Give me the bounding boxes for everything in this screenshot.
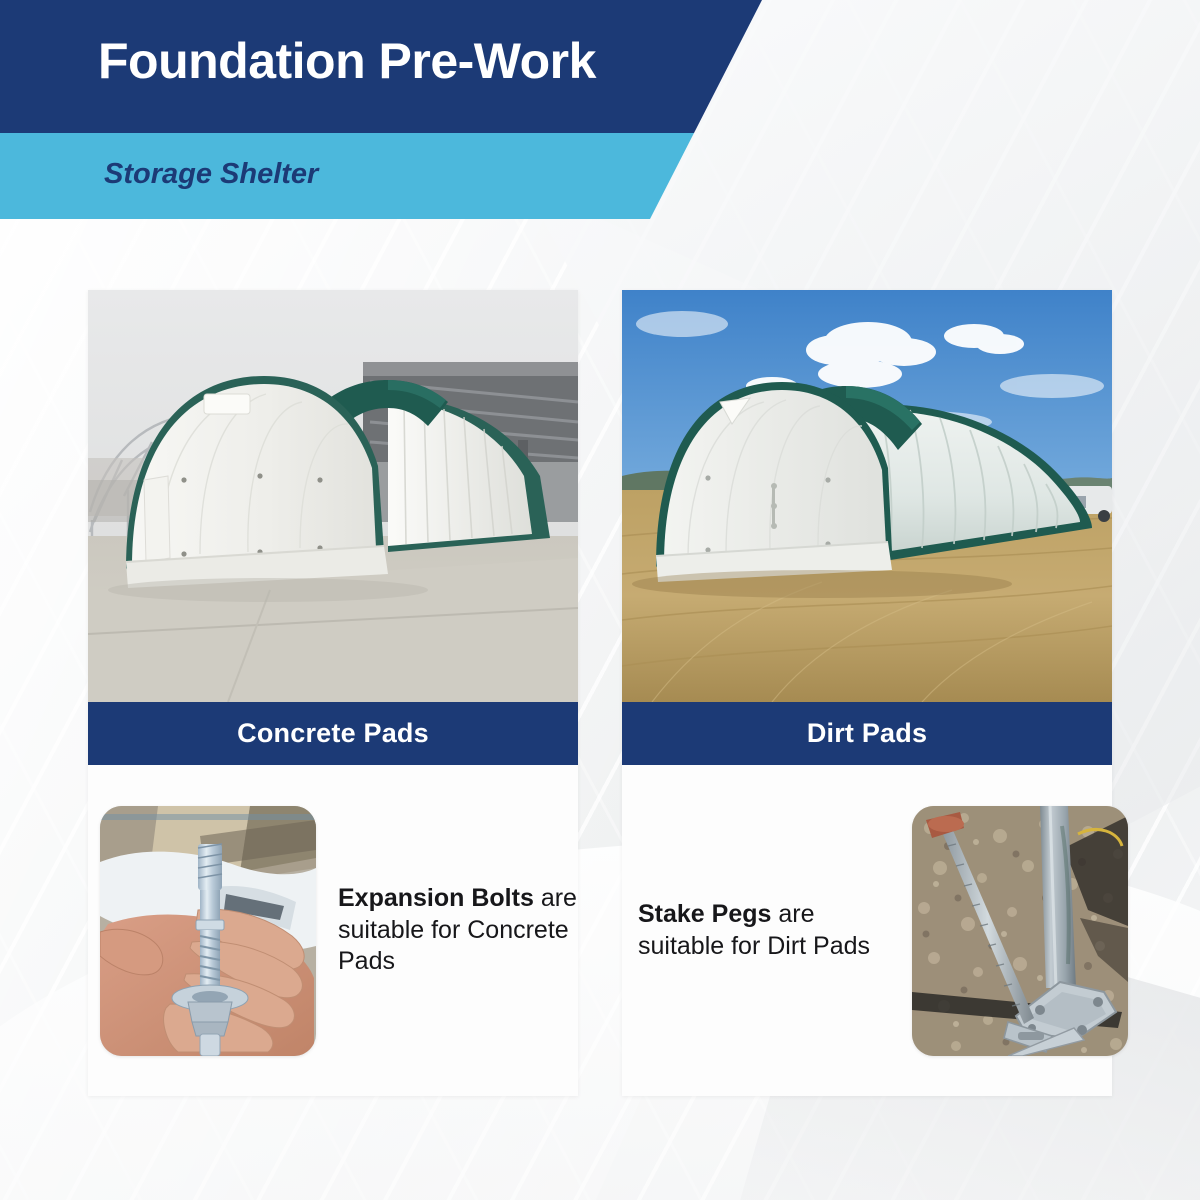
- panel-dirt: Dirt Pads Stake Pegs are suitable for Di…: [622, 290, 1112, 1096]
- photo-concrete-shelter: [88, 290, 578, 702]
- page-subtitle: Storage Shelter: [104, 160, 318, 189]
- thumb-expansion-bolt: [100, 806, 316, 1056]
- caption-dirt-bold: Stake Pegs: [638, 900, 771, 928]
- label-concrete-pads: Concrete Pads: [237, 718, 429, 749]
- caption-concrete: Expansion Bolts are suitable for Concret…: [316, 883, 590, 978]
- thumb-stake-peg: [912, 806, 1128, 1056]
- detail-row-concrete: Expansion Bolts are suitable for Concret…: [88, 765, 606, 1096]
- caption-concrete-bold: Expansion Bolts: [338, 884, 534, 912]
- photo-dirt-shelter: [622, 290, 1112, 702]
- panel-concrete: Concrete Pads: [88, 290, 578, 1096]
- label-bar-dirt: Dirt Pads: [622, 702, 1112, 765]
- infographic-canvas: Foundation Pre-Work Storage Shelter: [0, 0, 1200, 1200]
- caption-dirt: Stake Pegs are suitable for Dirt Pads: [638, 899, 912, 962]
- page-title: Foundation Pre-Work: [98, 36, 596, 86]
- label-dirt-pads: Dirt Pads: [807, 718, 927, 749]
- detail-row-dirt: Stake Pegs are suitable for Dirt Pads: [622, 765, 1140, 1096]
- label-bar-concrete: Concrete Pads: [88, 702, 578, 765]
